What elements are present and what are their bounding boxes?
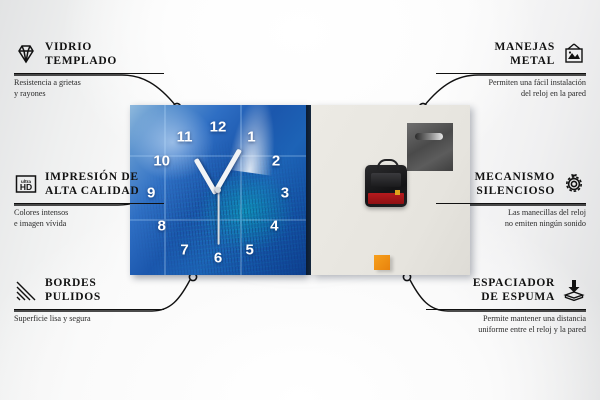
callout-title: MANEJAS METAL [436,40,555,68]
clock-second-hand [218,191,220,245]
callout-impresion-alta-calidad: ultra HD IMPRESIÓN DE ALTA CALIDAD Color… [14,170,164,230]
clock-numeral-4: 4 [270,218,278,233]
callout-rule [14,73,164,74]
callout-subtitle: Permiten una fácil instalación del reloj… [436,78,586,100]
sub-line-1: Superficie lisa y segura [14,314,91,323]
sub-line-1: Resistencia a grietas [14,78,81,87]
ultra-hd-icon: ultra HD [14,172,38,196]
callout-title: MECANISMO SILENCIOSO [436,170,555,198]
title-line-1: MANEJAS [495,41,556,53]
hanger-slot [415,133,443,140]
callout-rule [426,309,586,310]
callout-mecanismo-silencioso: MECANISMO SILENCIOSO Las manecillas del … [436,170,586,230]
callout-manejas-metal: MANEJAS METAL Permiten una fácil instala… [436,40,586,100]
mechanism-body [371,173,401,187]
mechanism-loop [377,159,399,170]
title-line-2: TEMPLADO [45,55,117,67]
callout-subtitle: Resistencia a grietas y rayones [14,78,164,100]
framed-picture-hook-icon [562,42,586,66]
callout-rule [14,203,164,204]
title-line-1: ESPACIADOR [473,277,555,289]
clock-numeral-11: 11 [177,130,193,145]
product-image: 12 1 2 3 4 5 6 7 8 9 10 11 [130,105,470,275]
callout-title: BORDES PULIDOS [45,276,101,304]
callout-subtitle: Permite mantener una distancia uniforme … [426,314,586,336]
callout-header: BORDES PULIDOS [14,276,164,304]
title-line-2: ALTA CALIDAD [45,185,139,197]
callout-header: VIDRIO TEMPLADO [14,40,164,68]
callout-subtitle: Las manecillas del reloj no emiten ningú… [436,208,586,230]
infographic-canvas: 12 1 2 3 4 5 6 7 8 9 10 11 [0,0,600,400]
title-line-1: MECANISMO [475,171,555,183]
title-line-1: IMPRESIÓN DE [45,171,139,183]
title-line-1: BORDES [45,277,97,289]
title-line-2: PULIDOS [45,291,101,303]
clock-numeral-12: 12 [210,120,227,135]
sub-line-2: y rayones [14,89,46,98]
battery [368,193,404,204]
battery-terminal [395,190,400,195]
clock-numeral-6: 6 [214,251,222,266]
callout-bordes-pulidos: BORDES PULIDOS Superficie lisa y segura [14,276,164,325]
title-line-2: SILENCIOSO [476,185,555,197]
polished-edge-icon [14,278,38,302]
sub-line-2: del reloj en la pared [521,89,586,98]
metal-hanger-plate [407,123,453,171]
callout-header: MANEJAS METAL [436,40,586,68]
sub-line-1: Las manecillas del reloj [508,208,586,217]
callout-subtitle: Colores intensos e imagen vívida [14,208,164,230]
sub-line-2: uniforme entre el reloj y la pared [478,325,586,334]
callout-header: ultra HD IMPRESIÓN DE ALTA CALIDAD [14,170,164,198]
callout-vidrio-templado: VIDRIO TEMPLADO Resistencia a grietas y … [14,40,164,100]
clock-numeral-3: 3 [281,186,289,201]
clock-numeral-10: 10 [153,154,170,169]
callout-rule [14,309,164,310]
sub-line-2: no emiten ningún sonido [505,219,586,228]
diamond-icon [14,42,38,66]
arrow-down-pad-icon [562,278,586,302]
clock-center-pivot [215,187,221,193]
svg-text:HD: HD [20,182,32,192]
clock-mechanism [365,165,407,207]
title-line-2: DE ESPUMA [481,291,555,303]
callout-subtitle: Superficie lisa y segura [14,314,164,325]
callout-header: MECANISMO SILENCIOSO [436,170,586,198]
sub-line-2: e imagen vívida [14,219,66,228]
callout-espaciador-espuma: ESPACIADOR DE ESPUMA Permite mantener un… [426,276,586,336]
title-line-2: METAL [510,55,555,67]
clock-numeral-2: 2 [272,154,280,169]
gear-icon [562,172,586,196]
clock-numeral-1: 1 [247,130,255,145]
sub-line-1: Permiten una fácil instalación [488,78,586,87]
callout-title: IMPRESIÓN DE ALTA CALIDAD [45,170,139,198]
title-line-1: VIDRIO [45,41,92,53]
clock-numeral-7: 7 [180,242,188,257]
foam-spacer [374,255,390,270]
callout-header: ESPACIADOR DE ESPUMA [426,276,586,304]
clock-numeral-5: 5 [246,242,254,257]
callout-title: ESPACIADOR DE ESPUMA [426,276,555,304]
callout-rule [436,203,586,204]
callout-rule [436,73,586,74]
sub-line-1: Permite mantener una distancia [483,314,586,323]
callout-title: VIDRIO TEMPLADO [45,40,117,68]
sub-line-1: Colores intensos [14,208,68,217]
